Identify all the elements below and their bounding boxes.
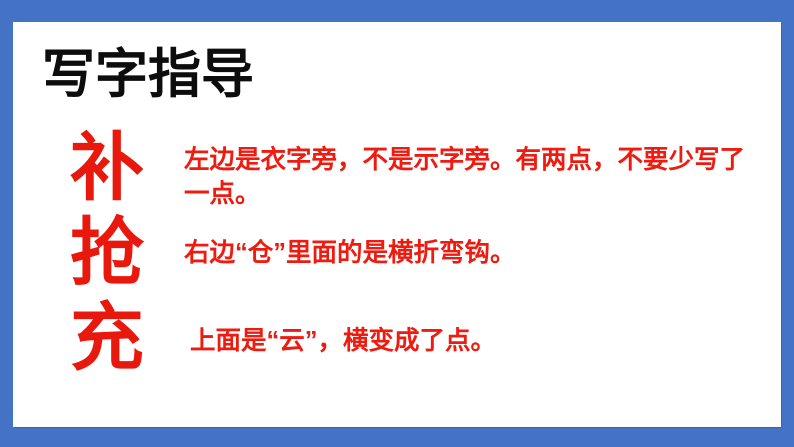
character-item: 抢 — [70, 210, 144, 295]
note-item: 左边是衣字旁，不是示字旁。有两点，不要少写了一点。 — [184, 144, 750, 211]
note-item: 上面是“云”，横变成了点。 — [190, 325, 764, 359]
frame-border-right — [781, 0, 794, 447]
note-list: 左边是衣字旁，不是示字旁。有两点，不要少写了一点。 右边“仓”里面的是横折弯钩。… — [184, 122, 764, 359]
frame-border-left — [0, 0, 13, 447]
page-title: 写字指导 — [42, 48, 254, 101]
character-item: 补 — [70, 125, 144, 210]
note-item: 右边“仓”里面的是横折弯钩。 — [184, 237, 764, 271]
character-item: 充 — [70, 295, 144, 380]
character-column: 补 抢 充 — [52, 121, 162, 380]
slide: 写字指导 补 抢 充 左边是衣字旁，不是示字旁。有两点，不要少写了一点。 右边“… — [0, 0, 794, 447]
frame-border-top — [0, 0, 794, 22]
frame-border-bottom — [0, 427, 794, 447]
